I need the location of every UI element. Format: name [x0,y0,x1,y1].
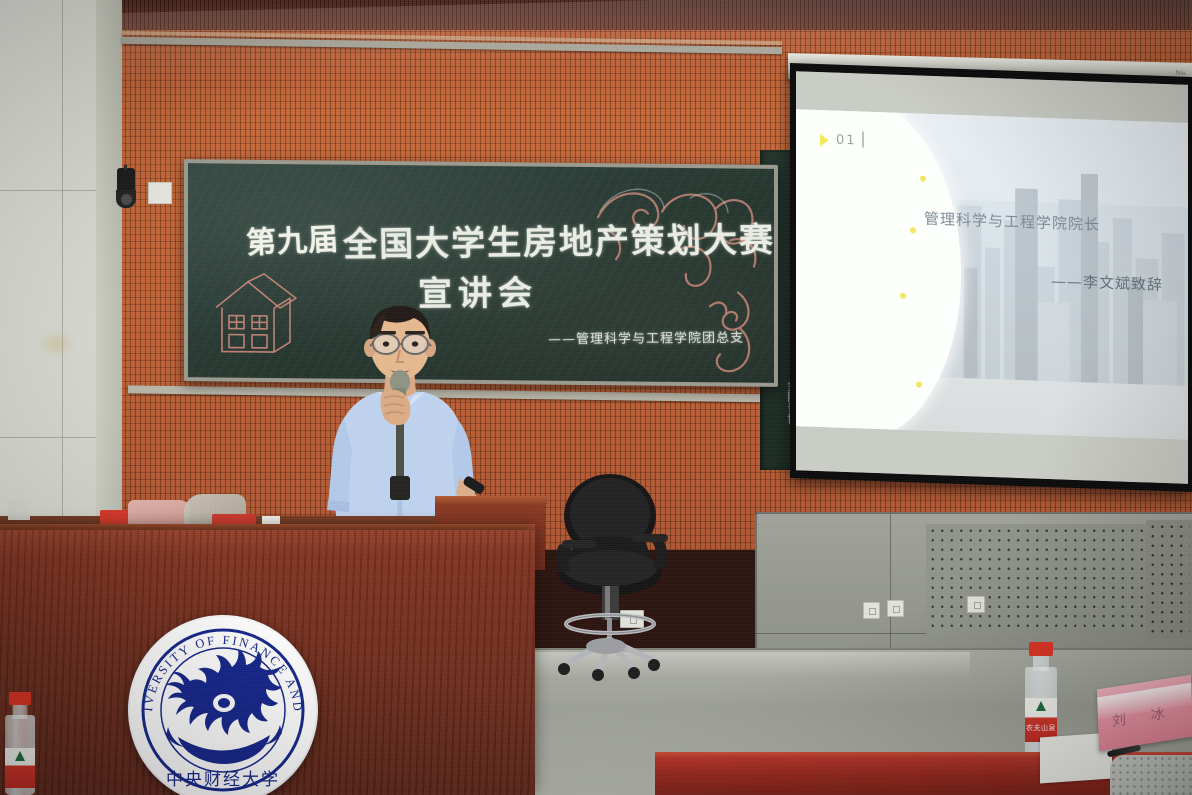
lecture-hall-photo: 第九届 全国大学生房地产策划大赛 宣讲会 ——管理科学与工程学院团总支 金院青协… [0,0,1192,795]
pink-cloth [128,500,190,526]
slide-accent-dot [910,227,916,233]
bottle-brand-label: 农夫山泉 [1025,723,1057,733]
podium-right-surface [435,496,547,504]
floor-reflection [470,652,970,678]
wall-camera-icon [113,168,139,216]
wall-socket[interactable] [967,596,985,613]
desk-clutter [100,494,315,526]
seal-inner-text: 中央财经大学 [166,770,280,790]
wall-socket[interactable] [863,602,880,619]
white-box [8,500,30,520]
chalk-swirl-decoration-lower [698,286,768,379]
presentation-slide: 01 管理科学与工程学院院长 ——李文斌致辞 [796,109,1188,440]
slide-play-triangle-icon [820,134,829,146]
wall-plate [148,182,172,204]
slide-accent-dot [900,293,906,299]
chalk-swirl-decoration [580,177,770,329]
office-chair[interactable] [548,468,698,683]
wall-stain [38,330,76,358]
fabric-corner [1110,755,1192,795]
wall-corner-edge [96,0,122,545]
slide-title-line2: ——李文斌致辞 [1051,270,1163,295]
chalk-signature: ——管理科学与工程学院团总支 [548,327,744,348]
university-seal: CENTRAL UNIVERSITY OF FINANCE AND ECONOM… [128,615,318,795]
perforated-acoustic-panel-right [1146,520,1192,638]
chalk-house-drawing [208,271,300,358]
chalk-line1-prefix: 第九届 [245,214,340,262]
slide-divider [862,131,864,147]
chalk-line1-main: 全国大学生房地产策划大赛 [343,212,774,266]
projection-screen: 01 管理科学与工程学院院长 ——李文斌致辞 [790,63,1192,492]
water-bottle-left[interactable] [0,692,40,795]
wall-socket[interactable] [887,600,904,617]
slide-accent-dot [920,176,926,182]
slide-accent-dot [916,381,922,387]
slide-number: 01 [836,133,857,149]
